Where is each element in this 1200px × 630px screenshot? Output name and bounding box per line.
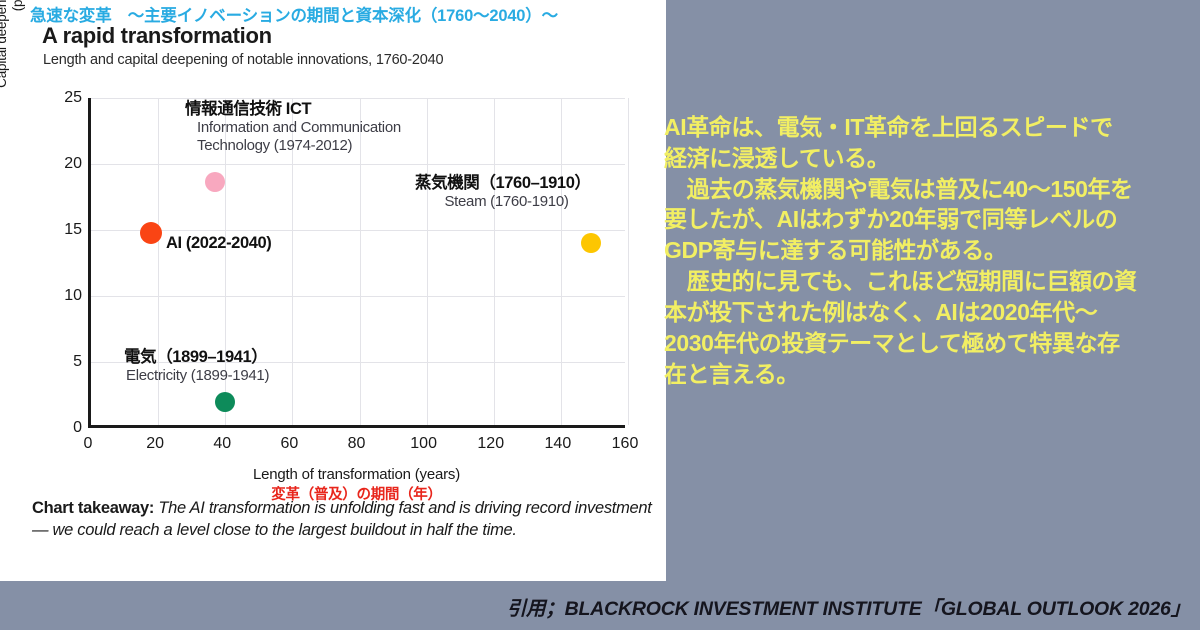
gridline-vertical xyxy=(628,98,629,425)
annotation-ai-label: AI (2022-2040) xyxy=(166,234,271,253)
gridline-vertical xyxy=(427,98,428,425)
y-tick-label: 20 xyxy=(42,155,82,173)
x-tick-label: 100 xyxy=(410,435,437,453)
y-tick-label: 15 xyxy=(42,221,82,239)
gridline-vertical xyxy=(494,98,495,425)
x-tick-label: 160 xyxy=(612,435,639,453)
annotation-steam-japanese: 蒸気機関（1760–1910） xyxy=(415,174,591,193)
commentary-line: 歴史的に見ても、これほど短期間に巨額の資 xyxy=(664,266,1198,297)
y-tick-label: 5 xyxy=(42,353,82,371)
y-tick-label: 10 xyxy=(42,287,82,305)
gridline-horizontal xyxy=(91,164,625,165)
x-tick-label: 60 xyxy=(280,435,298,453)
y-tick-label: 0 xyxy=(42,419,82,437)
x-axis-label: Length of transformation (years) xyxy=(88,466,625,483)
chart-subtitle: Length and capital deepening of notable … xyxy=(43,52,443,68)
y-tick-label: 25 xyxy=(42,89,82,107)
source-credit: 引用；BLACKROCK INVESTMENT INSTITUTE「GLOBAL… xyxy=(0,592,1190,621)
annotation-steam-english: Steam (1760-1910) xyxy=(415,193,591,211)
gridline-vertical xyxy=(561,98,562,425)
x-tick-label: 140 xyxy=(545,435,572,453)
annotation-ai: AI (2022-2040) xyxy=(166,234,271,253)
x-tick-label: 120 xyxy=(477,435,504,453)
annotation-electricity-english: Electricity (1899-1941) xyxy=(124,367,269,385)
gridline-horizontal xyxy=(91,296,625,297)
gridline-horizontal xyxy=(91,230,625,231)
commentary-line: GDP寄与に達する可能性がある。 xyxy=(664,235,1198,266)
data-point-ict[interactable] xyxy=(205,172,225,192)
commentary-line: 要したが、AIはわずか20年弱で同等レベルの xyxy=(664,204,1198,235)
annotation-electricity: 電気（1899–1941） Electricity (1899-1941) xyxy=(124,348,269,385)
commentary-panel: AI革命は、電気・IT革命を上回るスピードで経済に浸透している。 過去の蒸気機関… xyxy=(664,112,1198,389)
data-point-ai[interactable] xyxy=(140,222,162,244)
commentary-line: AI革命は、電気・IT革命を上回るスピードで xyxy=(664,112,1198,143)
commentary-line: 在と言える。 xyxy=(664,359,1198,390)
annotation-ict-japanese: 情報通信技術 ICT xyxy=(185,100,401,119)
x-tick-label: 20 xyxy=(146,435,164,453)
y-axis-ticks: 0510152025 xyxy=(38,98,82,428)
commentary-line: 過去の蒸気機関や電気は普及に40〜150年を xyxy=(664,174,1198,205)
annotation-ict-english-line1: Information and Communication xyxy=(185,119,401,137)
annotation-electricity-japanese: 電気（1899–1941） xyxy=(124,348,269,367)
x-tick-label: 40 xyxy=(213,435,231,453)
chart-title: A rapid transformation xyxy=(42,23,272,49)
data-point-steam[interactable] xyxy=(581,233,601,253)
commentary-line: 2030年代の投資テーマとして極めて特異な存 xyxy=(664,328,1198,359)
chart-takeaway-label: Chart takeaway: xyxy=(32,499,154,517)
y-axis-label: Capital deepening contribution to GDP gr… xyxy=(0,0,27,110)
annotation-ict-english-line2: Technology (1974-2012) xyxy=(185,137,401,155)
chart-takeaway: Chart takeaway: The AI transformation is… xyxy=(32,498,652,542)
x-tick-label: 0 xyxy=(84,435,93,453)
chart-card: 急速な変革 〜主要イノベーションの期間と資本深化（1760〜2040）〜 A r… xyxy=(0,0,666,581)
data-point-electricity[interactable] xyxy=(215,392,235,412)
commentary-line: 本が投下された例はなく、AIは2020年代〜 xyxy=(664,297,1198,328)
gridline-horizontal xyxy=(91,98,625,99)
annotation-ict: 情報通信技術 ICT Information and Communication… xyxy=(185,100,401,154)
x-axis-ticks: 020406080100120140160 xyxy=(88,435,625,457)
x-tick-label: 80 xyxy=(348,435,366,453)
annotation-steam: 蒸気機関（1760–1910） Steam (1760-1910) xyxy=(415,174,591,211)
commentary-line: 経済に浸透している。 xyxy=(664,143,1198,174)
